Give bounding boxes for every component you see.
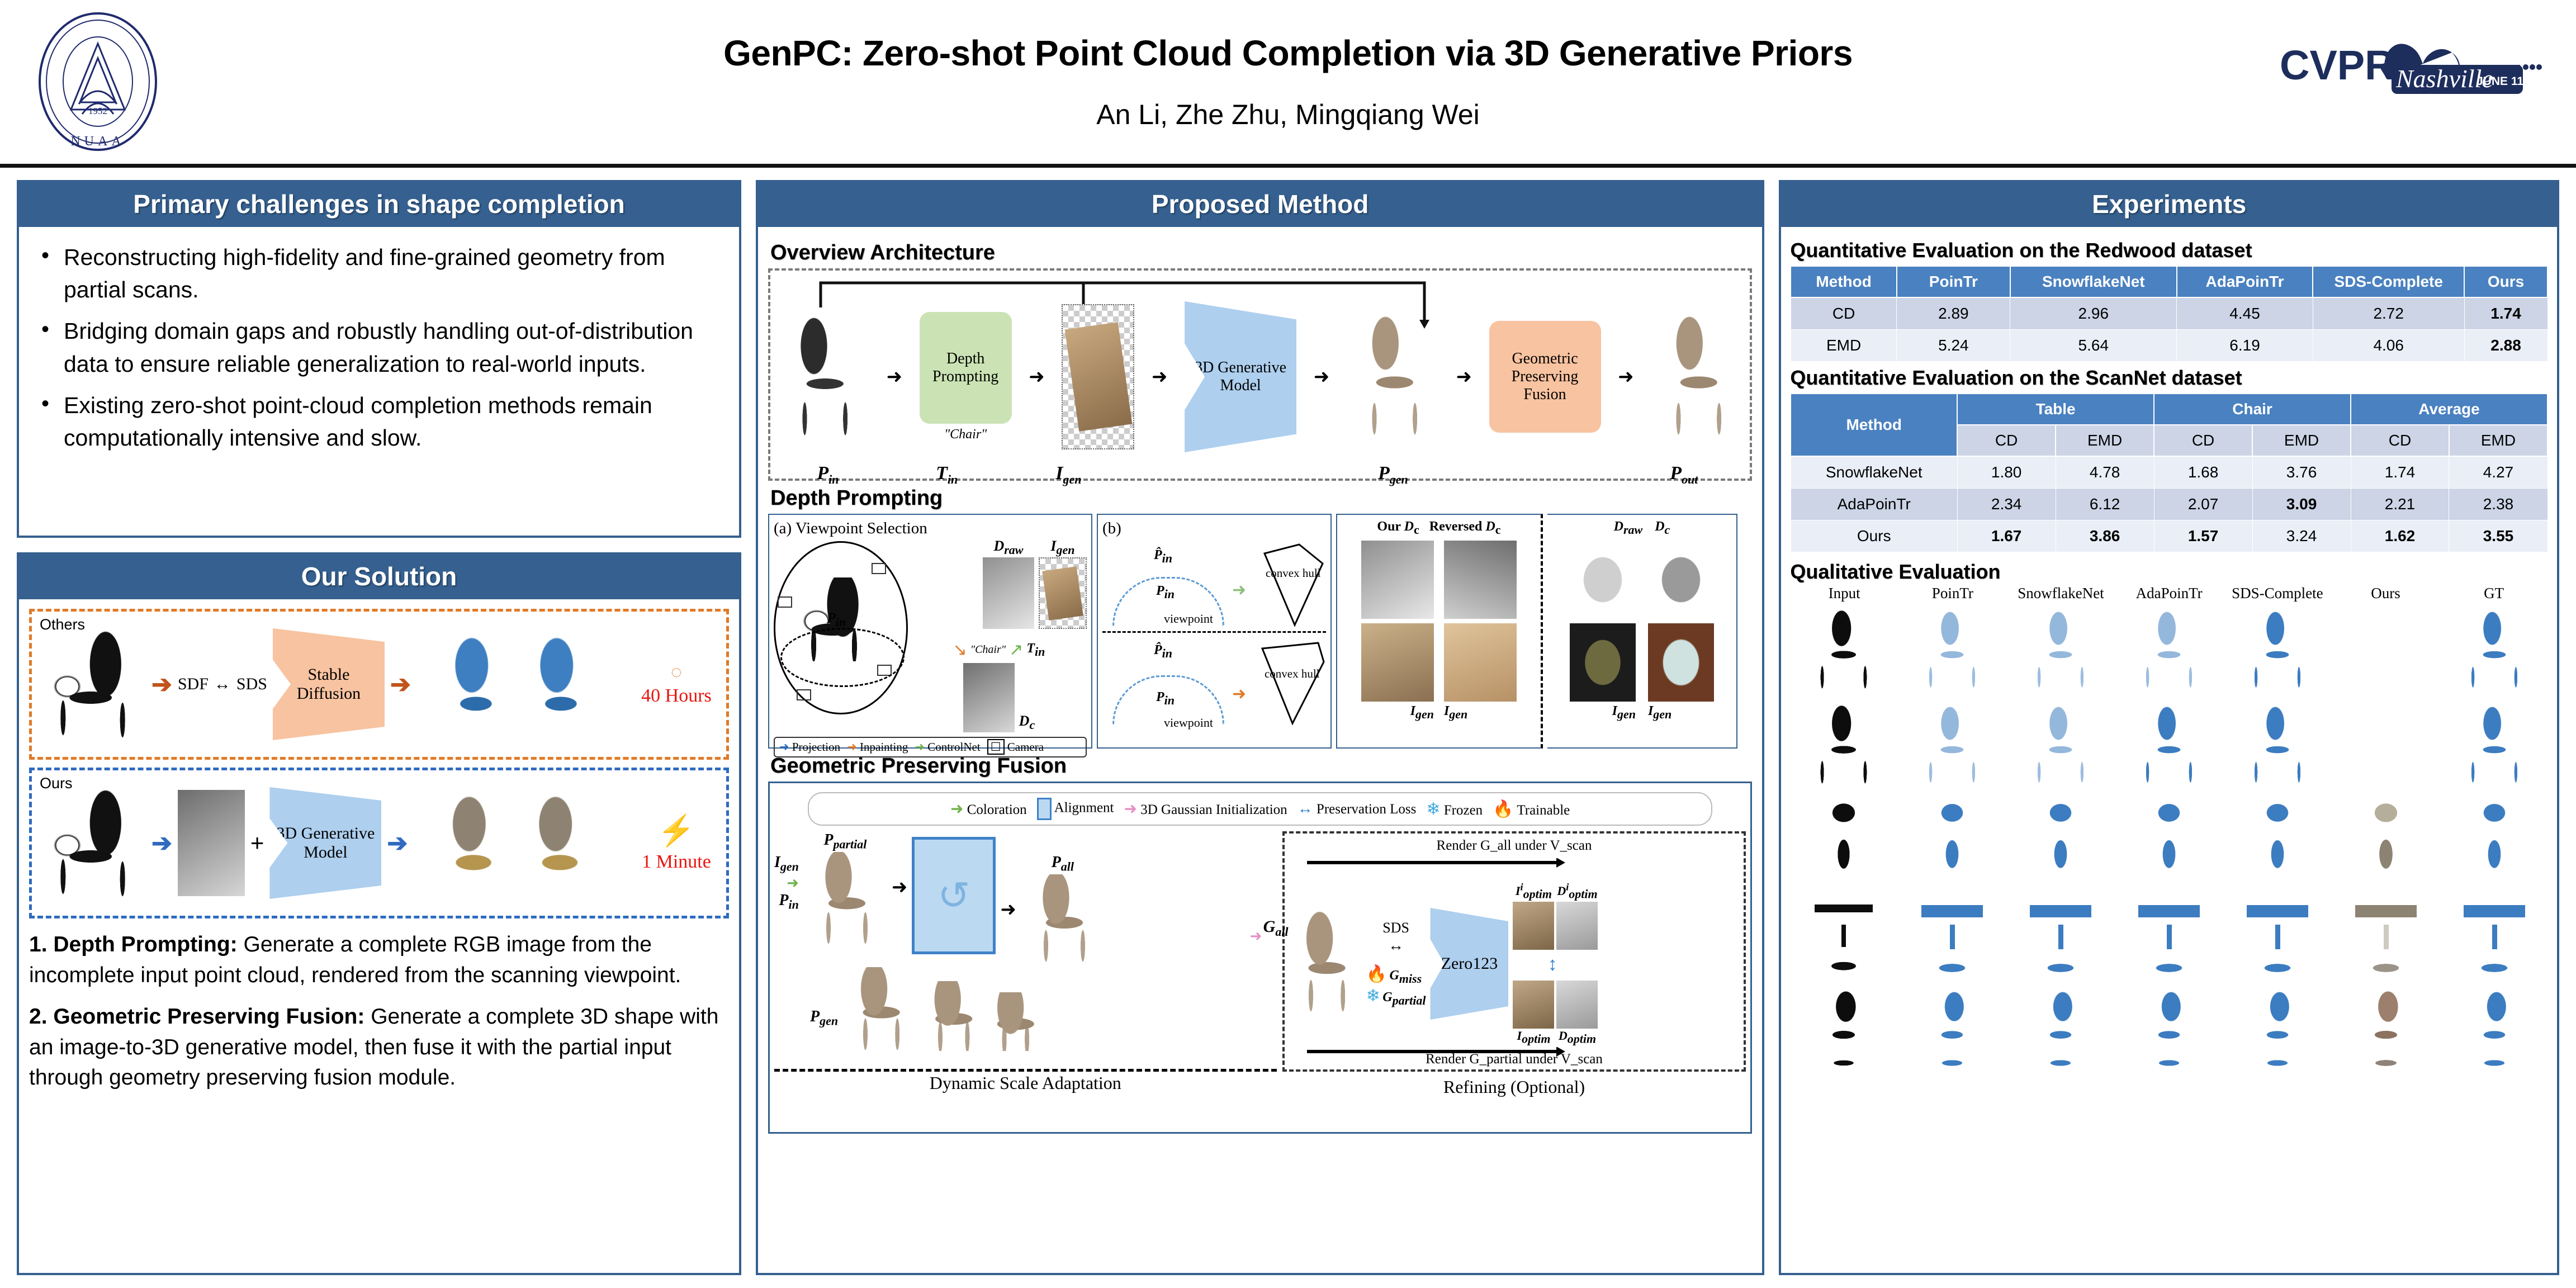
arrow-inpainting-legend-icon: ➜: [847, 740, 857, 754]
label-d-optim-i: Dioptim: [1557, 884, 1597, 898]
subheading-overview-architecture: Overview Architecture: [770, 241, 1752, 265]
optim-outputs: Iioptim Dioptim ↔: [1513, 882, 1598, 1046]
label-i-optim: Ioptim: [1517, 1029, 1551, 1043]
output-pointcloud-ours: [413, 783, 629, 903]
qual-r4-gt: [2441, 887, 2548, 981]
snowflake-icon: ❄: [1426, 800, 1440, 818]
cvpr-dates: JUNE 11-15, 2025: [2476, 75, 2542, 88]
label-p-in-sphere: Pin: [827, 610, 846, 629]
label-convex-hull-2: convex hull: [1265, 667, 1320, 680]
panel-a-title: Viewpoint Selection: [795, 519, 927, 537]
pointcloud-p-gen-scale-3: [989, 992, 1040, 1051]
table1-col-snowflakenet: SnowflakeNet: [2010, 266, 2177, 297]
table2-sub-avg-cd: CD: [2351, 425, 2449, 456]
subfigure-refining-optional: Gall ➜ Render G_all under V_scan SDS ↔: [1282, 831, 1746, 1072]
runtime-ours: ⚡ 1 Minute: [634, 812, 718, 874]
arrow-gaussian-init-gpf-icon: ➜: [1250, 927, 1262, 945]
table2-r3-c3: 1.57: [2154, 520, 2252, 552]
runtime-others: ◌ 40 Hours: [634, 661, 718, 708]
legend-label-coloration: Coloration: [967, 802, 1027, 817]
arrow-icon-2: ➜: [1029, 366, 1045, 388]
panel-our-solution: Our Solution Others ➔ SDF ↔ SDS Stable D…: [17, 552, 741, 1275]
table2-col-method: Method: [1791, 394, 1957, 456]
render-d-optim-i: [1556, 902, 1598, 950]
image-reversed-dc-result: [1444, 623, 1517, 702]
image-draw-vase-result: [1570, 623, 1636, 702]
arrow-right-icon-4: ➔: [387, 829, 408, 858]
arrow-right-icon-3: ➔: [151, 829, 172, 858]
refining-row: SDS ↔ 🔥 Gmiss ❄ Gpartial: [1289, 882, 1740, 1046]
figure-geometric-preserving-fusion: ➜ Coloration Alignment ➜ 3D Gaussian Ini…: [768, 782, 1752, 1134]
caption-igen-1: Igen: [1410, 704, 1434, 722]
gpartial-row: ❄ Gpartial: [1366, 986, 1426, 1008]
table1-r1-c3: 4.45: [2177, 297, 2313, 330]
fire-icon-gmiss: 🔥: [1366, 965, 1387, 983]
table1-r2-c2: 5.64: [2010, 330, 2177, 362]
sdf-label: SDF: [178, 675, 209, 694]
table2-sub-chair-emd: EMD: [2252, 425, 2351, 456]
label-p-all: Pall: [1052, 854, 1074, 871]
camera-icon-3: [877, 665, 892, 676]
pointcloud-p-gen-scale-2: [922, 981, 983, 1051]
arrow-icon-7: ➜: [892, 876, 908, 898]
label-g-all: Gall: [1263, 917, 1289, 939]
paragraph-2-heading: 2. Geometric Preserving Fusion:: [29, 1005, 364, 1029]
column-left: Primary challenges in shape completion R…: [17, 180, 741, 1275]
table1-r1-c4: 2.72: [2313, 297, 2464, 330]
qual-r5-sdscomplete: [2224, 982, 2331, 1076]
depth-reversed-dc: [1444, 541, 1517, 619]
panel-proposed-method-body: Overview Architecture ➜ Depth Prompting …: [758, 229, 1762, 1273]
label-g-partial: Gpartial: [1382, 990, 1426, 1005]
table1-r1-c5: 1.74: [2464, 297, 2547, 330]
output-pointcloud-others: [416, 624, 629, 745]
author-list: An Li, Zhe Zhu, Mingqiang Wei: [0, 98, 2576, 131]
table1-r1-c2: 2.96: [2010, 297, 2177, 330]
caption-refining-optional: Refining (Optional): [1285, 1077, 1744, 1097]
table1-r2-c5: 2.88: [2464, 330, 2547, 362]
qual-r1-input: [1790, 602, 1897, 696]
arrow-right-icon-2: ➔: [390, 670, 411, 699]
qual-r2-sdscomplete: [2224, 697, 2331, 791]
hull-shape-2: [1257, 640, 1329, 729]
table2-r3-method: Ours: [1791, 520, 1957, 552]
table1-col-sdscomplete: SDS-Complete: [2313, 266, 2464, 297]
qual-r2-adapointr: [2115, 697, 2223, 791]
label-p-in-1: Pin: [1156, 584, 1175, 602]
legend-item-camera: ☐ Camera: [987, 740, 1044, 754]
arrow-icon-3: ➜: [1152, 366, 1168, 388]
label-i-gen: Igen: [1018, 463, 1119, 487]
qual-r1-pointr: [1898, 602, 2006, 696]
qual-r5-gt: [2441, 982, 2548, 1076]
prompt-text-chair-a: "Chair": [970, 643, 1006, 656]
legend-label-projection: Projection: [792, 740, 840, 754]
arrow-render-partial: [1307, 1047, 1575, 1062]
table2-r3-c1: 1.67: [1957, 520, 2056, 552]
double-arrow-icon: ↔: [214, 675, 231, 694]
table-row: AdaPoinTr 2.34 6.12 2.07 3.09 2.21 2.38: [1791, 489, 2547, 520]
arrow-controlnet-icon: ↗: [1009, 640, 1023, 660]
table2-r3-c6: 3.55: [2449, 520, 2547, 552]
arrow-right-icon: ➔: [151, 670, 172, 699]
table2-r1-method: SnowflakeNet: [1791, 456, 1957, 489]
panel-challenges-body: Reconstructing high-fidelity and fine-gr…: [19, 229, 739, 536]
qualitative-column-headers: Input PoinTr SnowflakeNet AdaPoinTr SDS-…: [1790, 585, 2548, 602]
panel-our-solution-body: Others ➔ SDF ↔ SDS Stable Diffusion ➔ ◌ …: [19, 601, 739, 1273]
label-phat-in-2: P̂in: [1154, 643, 1172, 661]
stable-diffusion-block: Stable Diffusion: [273, 628, 385, 740]
gmiss-row: 🔥 Gmiss: [1366, 964, 1426, 986]
label-d-optim: Doptim: [1559, 1029, 1596, 1043]
snowflake-icon-gpartial: ❄: [1366, 987, 1380, 1005]
legend-depth-prompting: ➜ Projection ➜ Inpainting ➜ ControlNet: [774, 737, 1087, 757]
qual-col-sdscomplete: SDS-Complete: [2223, 585, 2332, 602]
panel-a-caption: (a) Viewpoint Selection: [774, 519, 1087, 538]
qualitative-title: Qualitative Evaluation: [1790, 560, 2548, 584]
qual-r3-adapointr: [2115, 792, 2223, 886]
image-i-gen-a: [1039, 557, 1087, 629]
title-block: GenPC: Zero-shot Point Cloud Completion …: [0, 32, 2576, 131]
table2-sub-chair-cd: CD: [2154, 425, 2252, 456]
legend-label-camera: Camera: [1007, 740, 1044, 754]
table2-group-header-row: Method Table Chair Average: [1791, 394, 2547, 425]
legend-label-trainable: Trainable: [1517, 803, 1570, 818]
camera-legend-icon: ☐: [987, 739, 1005, 755]
table1-title: Quantitative Evaluation on the Redwood d…: [1790, 239, 2548, 262]
label-p-in-gpf: Pin: [779, 892, 798, 909]
table-row: Ours 1.67 3.86 1.57 3.24 1.62 3.55: [1791, 520, 2547, 552]
table-row: SnowflakeNet 1.80 4.78 1.68 3.76 1.74 4.…: [1791, 456, 2547, 489]
arrow-hull-icon-2: ➜: [1232, 684, 1246, 704]
pointcloud-p-all: [1021, 874, 1105, 964]
legend-label-alignment: Alignment: [1054, 801, 1114, 816]
label-p-out: Pout: [1628, 463, 1740, 487]
qual-r1-adapointr: [2115, 602, 2223, 696]
panel-b-tag: (b): [1102, 519, 1326, 538]
qual-r5-ours: [2332, 982, 2440, 1076]
depth-draw-vase: [1570, 541, 1636, 619]
legend-label-frozen: Frozen: [1444, 803, 1483, 818]
label-spacer-2: [1479, 463, 1607, 487]
legend-label-controlnet: ControlNet: [927, 740, 981, 754]
table-redwood: Method PoinTr SnowflakeNet AdaPoinTr SDS…: [1790, 266, 2548, 362]
convex-hull-case-1: P̂in Pin viewpoint ➜ convex hull: [1102, 538, 1326, 633]
qual-r4-snowflakenet: [2007, 887, 2114, 981]
render-i-optim-i: [1513, 902, 1554, 950]
qual-r4-adapointr: [2115, 887, 2223, 981]
qual-r3-ours: [2332, 792, 2440, 886]
depth-dc-vase: [1648, 541, 1714, 619]
legend-label-inpainting: Inpainting: [860, 740, 908, 754]
table2-r2-c6: 2.38: [2449, 489, 2547, 520]
label-t-in-a: Tin: [1026, 641, 1045, 659]
prompt-text-chair: "Chair": [920, 427, 1012, 442]
pipeline-ours-label: Ours: [40, 775, 73, 792]
legend-item-controlnet: ➜ ControlNet: [915, 740, 980, 754]
table2-r3-c2: 3.86: [2056, 520, 2154, 552]
table1-col-adapointr: AdaPoinTr: [2177, 266, 2313, 297]
caption-igen-2: Igen: [1444, 704, 1467, 722]
table1-r2-metric: EMD: [1791, 330, 1897, 362]
table2-r3-c4: 3.24: [2252, 520, 2351, 552]
arrow-controlnet-legend-icon: ➜: [915, 740, 925, 754]
arrow-icon-8: ➜: [1000, 898, 1016, 921]
table-scannet: Method Table Chair Average CD EMD CD EMD…: [1790, 393, 2548, 552]
label-g-miss: Gmiss: [1389, 968, 1422, 983]
arrow-inpainting-icon: ↘: [953, 640, 967, 660]
panel-experiments: Experiments Quantitative Evaluation on t…: [1779, 180, 2559, 1275]
block-3d-generative-model: 3D Generative Model: [1185, 301, 1296, 452]
figure-overview-architecture: ➜ Depth Prompting "Chair" ➜ ➜ 3D Generat…: [768, 268, 1752, 481]
qual-r2-pointr: [1898, 697, 2006, 791]
legend-item-trainable: 🔥 Trainable: [1493, 799, 1570, 819]
depth-map-d-c: [963, 663, 1015, 732]
qual-r5-input: [1790, 982, 1897, 1076]
legend-item-coloration: ➜ Coloration: [950, 799, 1027, 818]
arrow-gaussian-init-icon: ➜: [1124, 801, 1137, 818]
table1-r2-c4: 4.06: [2313, 330, 2464, 362]
arrow-icon-1: ➜: [887, 366, 903, 388]
label-p-in-2: Pin: [1156, 690, 1175, 708]
depth-map-d-raw: [983, 557, 1034, 629]
table1-r1-metric: CD: [1791, 297, 1897, 330]
table1-r2-c1: 5.24: [1897, 330, 2010, 362]
figure-dc-comparison: Our Dc Reversed Dc Igen Igen: [1336, 514, 1543, 749]
table2-r1-c6: 4.27: [2449, 456, 2547, 489]
table2-r2-c5: 2.21: [2351, 489, 2449, 520]
legend-item-frozen: ❄ Frozen: [1426, 799, 1483, 819]
alignment-module-block: ↺: [912, 837, 996, 954]
panel-challenges: Primary challenges in shape completion R…: [17, 180, 741, 538]
arrow-projection-icon: ➜: [779, 740, 789, 754]
table2-r2-method: AdaPoinTr: [1791, 489, 1957, 520]
table2-group-average: Average: [2351, 394, 2547, 425]
table2-sub-avg-emd: EMD: [2449, 425, 2547, 456]
qual-r3-pointr: [1898, 792, 2006, 886]
cvpr-conference-logo: CVPR Nashville JUNE 11-15, 2025: [2280, 17, 2542, 101]
qual-r2-ours: [2332, 697, 2440, 791]
lightning-bolt-icon: ⚡: [634, 812, 718, 850]
table1-header-row: Method PoinTr SnowflakeNet AdaPoinTr SDS…: [1791, 266, 2547, 297]
subfigure-dynamic-scale-adaptation: Igen ➜ Pin Ppartial ➜ ↺ ➜: [774, 831, 1277, 1072]
qual-r3-sdscomplete: [2224, 792, 2331, 886]
subheading-geometric-preserving-fusion: Geometric Preserving Fusion: [770, 754, 1752, 778]
caption-igen-3: Igen: [1612, 704, 1636, 722]
qual-r3-input: [1790, 792, 1897, 886]
label-convex-hull-1: convex hull: [1266, 567, 1321, 580]
generative-model-block: 3D Generative Model: [269, 787, 381, 899]
table1-col-pointr: PoinTr: [1897, 266, 2010, 297]
qual-r3-gt: [2441, 792, 2548, 886]
caption-dynamic-scale-adaptation: Dynamic Scale Adaptation: [774, 1073, 1277, 1093]
arrow-render-all: [1307, 858, 1575, 873]
label-p-gen: Pgen: [1329, 463, 1457, 487]
camera-icon-4: [797, 689, 811, 700]
camera-icon-2: [778, 596, 792, 608]
figure-draw-dc-comparison: Draw Dc Igen Igen: [1547, 514, 1737, 749]
table2-sub-table-emd: EMD: [2056, 425, 2154, 456]
label-viewpoint-2: viewpoint: [1164, 716, 1213, 730]
table1-r1-c1: 2.89: [1897, 297, 2010, 330]
table2-r2-c1: 2.34: [1957, 489, 2056, 520]
runtime-others-value: 40 Hours: [641, 685, 712, 706]
qual-r5-pointr: [1898, 982, 2006, 1076]
table1-col-method: Method: [1791, 266, 1897, 297]
qual-col-snowflakenet: SnowflakeNet: [2007, 585, 2115, 602]
runtime-ours-value: 1 Minute: [642, 851, 711, 872]
challenge-bullet-list: Reconstructing high-fidelity and fine-gr…: [34, 241, 724, 454]
overview-labels: Pin Tin Igen Pgen Pout: [777, 461, 1743, 487]
qual-r5-adapointr: [2115, 982, 2223, 1076]
block-zero123: Zero123: [1430, 908, 1508, 1020]
label-phat-in-1: P̂in: [1154, 548, 1172, 566]
cvpr-wordmark: CVPR: [2280, 42, 2395, 88]
block-geometric-preserving-fusion: Geometric Preserving Fusion: [1489, 321, 1601, 433]
legend-item-inpainting: ➜ Inpainting: [847, 740, 908, 754]
pointcloud-g-all: [1289, 911, 1362, 1017]
qual-r1-ours: [2332, 602, 2440, 696]
legend-item-alignment: Alignment: [1037, 798, 1114, 820]
image-our-dc-result: [1361, 623, 1434, 702]
qual-col-adapointr: AdaPoinTr: [2115, 585, 2223, 602]
challenge-bullet-1: Reconstructing high-fidelity and fine-gr…: [34, 241, 724, 306]
arrow-hull-icon-1: ➜: [1232, 580, 1246, 600]
header-d-c: Dc: [1655, 519, 1670, 537]
qual-r4-input: [1790, 887, 1897, 981]
sds-label: SDS: [236, 675, 267, 694]
fire-icon: 🔥: [1493, 800, 1513, 818]
challenge-bullet-2: Bridging domain gaps and robustly handli…: [34, 315, 724, 380]
label-viewpoint-1: viewpoint: [1164, 612, 1213, 626]
label-t-in: Tin: [897, 463, 997, 487]
poster-header: 1952 NUAA GenPC: Zero-shot Point Cloud C…: [0, 0, 2576, 168]
image-dc-vase-result: [1648, 623, 1714, 702]
qual-r1-gt: [2441, 602, 2548, 696]
figure-viewpoint-selection: (a) Viewpoint Selection Pin: [768, 514, 1092, 749]
label-p-in: Pin: [780, 463, 875, 487]
table2-r1-c2: 4.78: [2056, 456, 2154, 489]
arrow-icon-6: ➜: [1618, 366, 1634, 388]
table-row: CD 2.89 2.96 4.45 2.72 1.74: [1791, 297, 2547, 330]
panel-experiments-body: Quantitative Evaluation on the Redwood d…: [1781, 229, 2557, 1273]
loading-spinner-icon: ◌: [671, 662, 682, 683]
convex-hull-case-2: P̂in Pin viewpoint ➜ convex hull: [1102, 636, 1326, 731]
qual-r1-sdscomplete: [2224, 602, 2331, 696]
arrow-coloration-gpf-icon: ➜: [787, 874, 799, 891]
input-pointcloud-ours: [40, 787, 146, 899]
input-pointcloud-others: [40, 628, 146, 740]
table2-r1-c4: 3.76: [2252, 456, 2351, 489]
double-arrow-sds-icon: ↔: [1366, 936, 1426, 954]
pointcloud-p-gen-scale-1: [844, 967, 916, 1051]
qual-col-input: Input: [1790, 585, 1898, 602]
label-sds: SDS: [1366, 920, 1426, 936]
label-spacer: [1140, 463, 1308, 487]
paragraph-geometric-fusion: 2. Geometric Preserving Fusion: Generate…: [29, 1002, 729, 1093]
camera-icon-1: [872, 563, 886, 574]
table1-r2-c3: 6.19: [2177, 330, 2313, 362]
table2-group-chair: Chair: [2154, 394, 2351, 425]
legend-item-projection: ➜ Projection: [779, 740, 840, 754]
challenge-bullet-3: Existing zero-shot point-cloud completio…: [34, 389, 724, 454]
header-our-dc: Our Dc: [1377, 519, 1419, 537]
image-i-gen: [1062, 304, 1134, 449]
label-i-gen-a: Igen: [1050, 538, 1074, 554]
qual-r2-snowflakenet: [2007, 697, 2114, 791]
header-reversed-dc: Reversed Dc: [1429, 519, 1501, 537]
table2-r2-c4: 3.09: [2252, 489, 2351, 520]
qual-r1-snowflakenet: [2007, 602, 2114, 696]
page-title: GenPC: Zero-shot Point Cloud Completion …: [0, 32, 2576, 74]
paragraph-depth-prompting: 1. Depth Prompting: Generate a complete …: [29, 930, 729, 991]
viewpoint-sphere: Pin: [774, 541, 908, 714]
table2-r2-c2: 6.12: [2056, 489, 2154, 520]
label-i-optim-i: Iioptim: [1516, 884, 1552, 898]
table-row: EMD 5.24 5.64 6.19 4.06 2.88: [1791, 330, 2547, 362]
pipeline-others: Others ➔ SDF ↔ SDS Stable Diffusion ➔ ◌ …: [29, 609, 729, 760]
qual-col-gt: GT: [2440, 585, 2548, 602]
table2-r1-c3: 1.68: [2154, 456, 2252, 489]
table2-r2-c3: 2.07: [2154, 489, 2252, 520]
panel-our-solution-header: Our Solution: [19, 555, 739, 601]
legend-label-preservation-loss: Preservation Loss: [1317, 802, 1416, 817]
legend-label-gaussian-init: 3D Gaussian Initialization: [1140, 802, 1287, 817]
qualitative-result-grid: [1790, 602, 2548, 1076]
depth-render-thumb: [178, 790, 245, 896]
panel-experiments-header: Experiments: [1781, 182, 2557, 229]
plus-icon: +: [250, 830, 264, 856]
legend-gpf: ➜ Coloration Alignment ➜ 3D Gaussian Ini…: [808, 792, 1712, 826]
qual-r4-ours: [2332, 887, 2440, 981]
label-i-gen-gpf: Igen: [774, 854, 799, 871]
qual-col-pointr: PoinTr: [1898, 585, 2007, 602]
qual-r4-pointr: [1898, 887, 2006, 981]
panel-proposed-method-header: Proposed Method: [758, 182, 1762, 229]
subheading-depth-prompting: Depth Prompting: [770, 486, 1752, 510]
label-d-raw: Draw: [993, 538, 1023, 554]
qual-r2-gt: [2441, 697, 2548, 791]
arrow-icon-5: ➜: [1456, 366, 1472, 388]
qual-r4-sdscomplete: [2224, 887, 2331, 981]
pipeline-others-label: Others: [40, 616, 85, 633]
arrow-icon-4: ➜: [1314, 366, 1330, 388]
paragraph-1-heading: 1. Depth Prompting:: [29, 932, 238, 956]
legend-item-preservation-loss: ↔ Preservation Loss: [1298, 800, 1417, 818]
table2-r1-c1: 1.80: [1957, 456, 2056, 489]
table2-r3-c5: 1.62: [2351, 520, 2449, 552]
figure-depth-prompting: (a) Viewpoint Selection Pin: [768, 514, 1752, 749]
alignment-box-icon: [1037, 798, 1052, 820]
panel-a-tag: (a): [774, 519, 792, 537]
header-d-raw: Draw: [1614, 519, 1643, 537]
render-d-optim: [1556, 981, 1598, 1029]
table2-sub-table-cd: CD: [1957, 425, 2056, 456]
qual-col-ours: Ours: [2332, 585, 2440, 602]
qual-r5-snowflakenet: [2007, 982, 2114, 1076]
poster-columns: Primary challenges in shape completion R…: [0, 168, 2576, 1283]
gpf-body: Igen ➜ Pin Ppartial ➜ ↺ ➜: [774, 831, 1746, 1072]
figure-convex-hull: (b) P̂in Pin viewpoint ➜ convex hull: [1097, 514, 1332, 749]
arrow-coloration-icon: ➜: [950, 801, 963, 818]
panel-challenges-header: Primary challenges in shape completion: [19, 182, 739, 229]
qual-r3-snowflakenet: [2007, 792, 2114, 886]
render-i-optim: [1513, 981, 1554, 1029]
table1-col-ours: Ours: [2464, 266, 2547, 297]
table2-r1-c5: 1.74: [2351, 456, 2449, 489]
label-p-partial: Ppartial: [823, 831, 866, 849]
legend-item-gaussian-init: ➜ 3D Gaussian Initialization: [1124, 799, 1287, 818]
